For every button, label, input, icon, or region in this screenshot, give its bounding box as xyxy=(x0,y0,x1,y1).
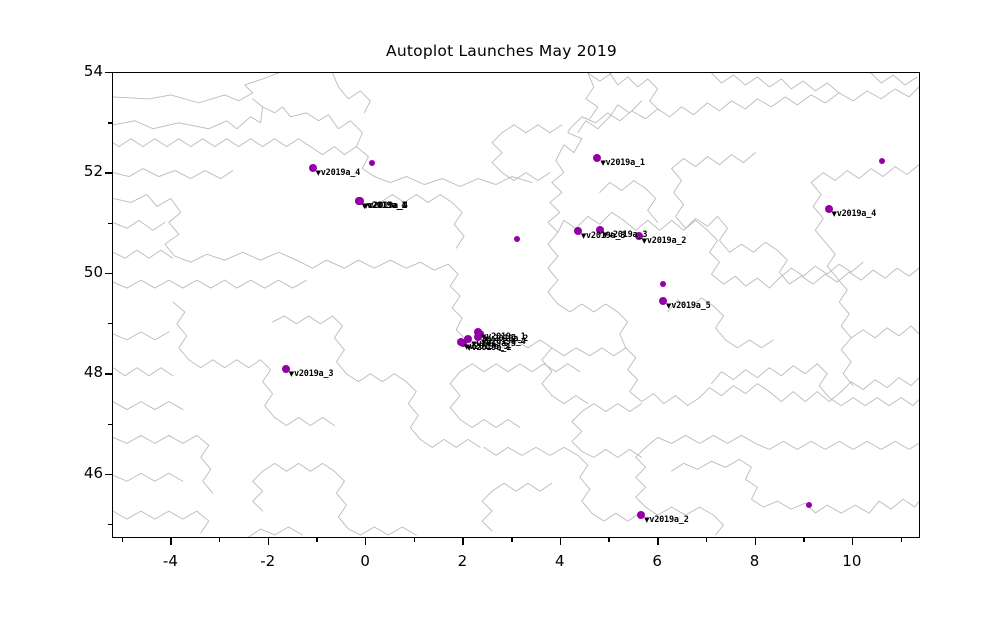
data-point-label: ▼v2019a_2 xyxy=(642,237,687,246)
x-tick-label: 10 xyxy=(822,552,882,570)
label-text: v2019a_4 xyxy=(321,168,360,178)
label-text: v2019a_1 xyxy=(472,343,511,353)
y-tick-minor xyxy=(108,223,112,224)
data-point-label: ▼v2019a_3 xyxy=(289,370,334,379)
x-tick-label: 2 xyxy=(432,552,492,570)
page-title: Autoplot Launches May 2019 xyxy=(0,42,1003,60)
data-point-label: ▼v2019a_4 xyxy=(832,210,877,219)
y-tick-minor xyxy=(108,424,112,425)
y-tick-label: 50 xyxy=(3,263,103,281)
x-tick-major xyxy=(268,538,269,545)
y-tick-minor xyxy=(108,122,112,123)
y-tick-label: 46 xyxy=(3,464,103,482)
x-tick-major xyxy=(657,538,658,545)
x-tick-minor xyxy=(511,538,512,542)
data-point-label: ▼v2019a_5 xyxy=(666,302,711,311)
y-tick-major xyxy=(105,172,112,173)
y-tick-minor xyxy=(108,323,112,324)
y-tick-major xyxy=(105,373,112,374)
x-tick-major xyxy=(852,538,853,545)
x-tick-major xyxy=(365,538,366,545)
label-text: v2019a_2 xyxy=(647,236,686,246)
x-tick-major xyxy=(462,538,463,545)
label-text: v2019a_3 xyxy=(294,369,333,379)
label-text: v2019a_5 xyxy=(671,301,710,311)
data-point-label: ▼v2019a_4 xyxy=(316,169,361,178)
x-tick-label: 4 xyxy=(530,552,590,570)
x-tick-label: 6 xyxy=(627,552,687,570)
y-tick-minor xyxy=(108,524,112,525)
y-tick-major xyxy=(105,72,112,73)
data-point-label: ▼v2019a_4 xyxy=(363,202,408,211)
x-tick-minor xyxy=(803,538,804,542)
y-tick-major xyxy=(105,474,112,475)
x-tick-minor xyxy=(608,538,609,542)
x-tick-major xyxy=(170,538,171,545)
y-tick-major xyxy=(105,273,112,274)
x-tick-minor xyxy=(122,538,123,542)
label-text: v2019a_2 xyxy=(649,515,688,525)
x-tick-minor xyxy=(706,538,707,542)
data-point-label: ▼v2019a_2 xyxy=(644,516,689,525)
y-tick-label: 48 xyxy=(3,363,103,381)
y-tick-label: 52 xyxy=(3,162,103,180)
y-tick-label: 54 xyxy=(3,62,103,80)
x-tick-label: 8 xyxy=(725,552,785,570)
label-text: v2019a_4 xyxy=(368,201,407,211)
label-text: v2019a_4 xyxy=(837,209,876,219)
x-tick-minor xyxy=(901,538,902,542)
data-point-label: ▼v2019a_1 xyxy=(600,159,645,168)
x-tick-minor xyxy=(219,538,220,542)
x-tick-label: -2 xyxy=(238,552,298,570)
x-tick-minor xyxy=(414,538,415,542)
x-tick-label: 0 xyxy=(335,552,395,570)
figure-canvas: Autoplot Launches May 2019 xyxy=(0,0,1003,633)
data-labels-layer: ▼v2019a_4▼v2019a_4▼v2019a_1▼v2019a_4▼v20… xyxy=(113,73,919,537)
data-point-label: ▼v2019a_3 xyxy=(603,231,648,240)
x-tick-major xyxy=(560,538,561,545)
x-tick-minor xyxy=(316,538,317,542)
x-tick-label: -4 xyxy=(140,552,200,570)
data-point-label: ▼v2019a_1 xyxy=(466,344,511,353)
plot-area: ▼v2019a_4▼v2019a_4▼v2019a_1▼v2019a_4▼v20… xyxy=(112,72,920,538)
label-text: v2019a_1 xyxy=(606,158,645,168)
x-tick-major xyxy=(755,538,756,545)
